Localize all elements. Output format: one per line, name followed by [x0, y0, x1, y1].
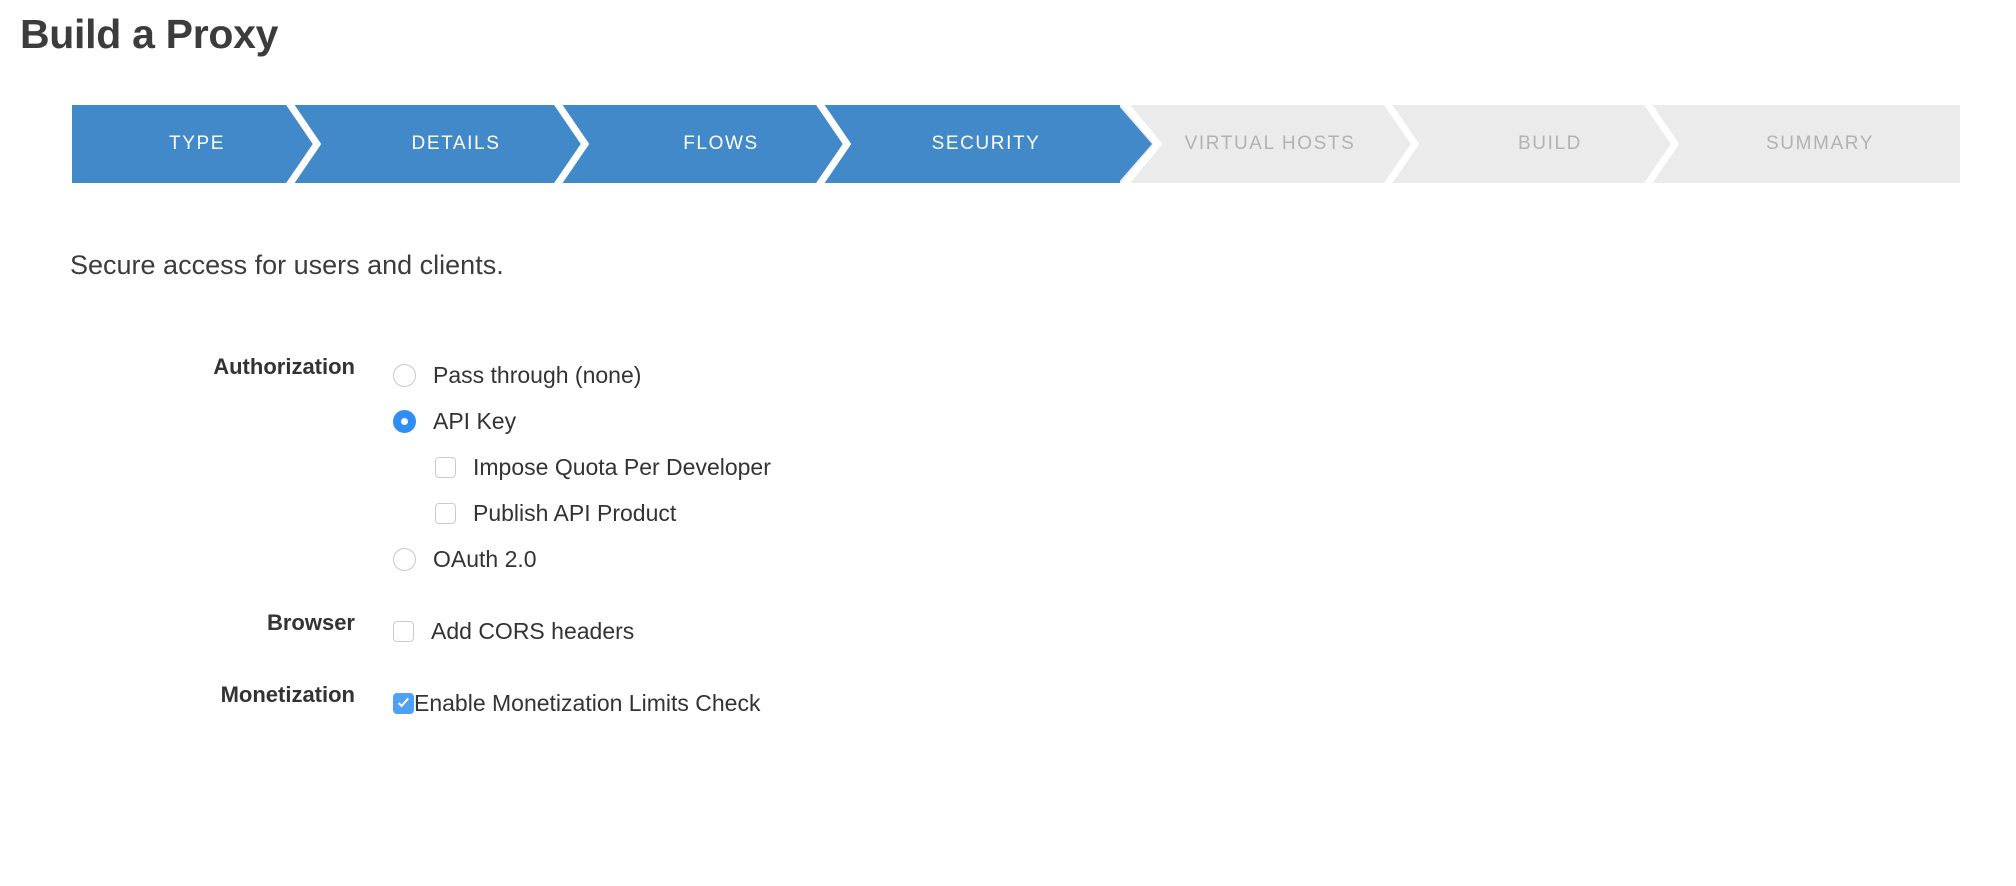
checkbox-option-impose-quota-per-developer[interactable]: Impose Quota Per Developer: [393, 444, 2016, 490]
radio-pass-through-none-unchecked-icon[interactable]: [393, 364, 416, 387]
wizard-step-label: VIRTUAL HOSTS: [1185, 133, 1356, 155]
wizard-step-label: TYPE: [169, 133, 225, 155]
option-label-api-key: API Key: [433, 410, 516, 433]
wizard-step-bar: TYPEDETAILSFLOWSSECURITYVIRTUAL HOSTSBUI…: [72, 105, 1960, 183]
wizard-step-chevron-divider-icon: [551, 105, 591, 183]
option-label-enable-monetization-limits-check: Enable Monetization Limits Check: [414, 692, 760, 715]
radio-option-pass-through-none[interactable]: Pass through (none): [393, 352, 2016, 398]
field-row-authorization: AuthorizationPass through (none)API KeyI…: [0, 352, 2016, 582]
wizard-step-summary[interactable]: SUMMARY: [1680, 105, 1960, 183]
option-label-oauth-2-0: OAuth 2.0: [433, 548, 537, 571]
checkbox-publish-api-product-unchecked-icon[interactable]: [435, 503, 456, 524]
wizard-step-build[interactable]: BUILD: [1420, 105, 1680, 183]
field-row-browser: BrowserAdd CORS headers: [0, 608, 2016, 654]
wizard-step-chevron-divider-icon: [1381, 105, 1421, 183]
radio-api-key-checked-icon[interactable]: [393, 410, 416, 433]
radio-oauth-2-0-unchecked-icon[interactable]: [393, 548, 416, 571]
wizard-step-label: SECURITY: [932, 133, 1041, 155]
option-label-impose-quota-per-developer: Impose Quota Per Developer: [473, 456, 771, 479]
checkbox-option-enable-monetization-limits-check[interactable]: Enable Monetization Limits Check: [393, 680, 2016, 726]
page-description: Secure access for users and clients.: [70, 250, 504, 281]
field-control-monetization: Enable Monetization Limits Check: [355, 680, 2016, 726]
wizard-step-flows[interactable]: FLOWS: [590, 105, 852, 183]
checkbox-option-publish-api-product[interactable]: Publish API Product: [393, 490, 2016, 536]
field-control-browser: Add CORS headers: [355, 608, 2016, 654]
field-control-authorization: Pass through (none)API KeyImpose Quota P…: [355, 352, 2016, 582]
field-label-browser: Browser: [0, 608, 355, 636]
option-label-pass-through-none: Pass through (none): [433, 364, 641, 387]
radio-option-oauth-2-0[interactable]: OAuth 2.0: [393, 536, 2016, 582]
option-label-publish-api-product: Publish API Product: [473, 502, 676, 525]
wizard-step-label: FLOWS: [683, 133, 759, 155]
field-spacer: [0, 582, 2016, 608]
checkbox-add-cors-headers-unchecked-icon[interactable]: [393, 621, 414, 642]
wizard-step-track: TYPEDETAILSFLOWSSECURITYVIRTUAL HOSTSBUI…: [72, 105, 1960, 183]
checkbox-impose-quota-per-developer-unchecked-icon[interactable]: [435, 457, 456, 478]
wizard-step-type[interactable]: TYPE: [72, 105, 322, 183]
checkbox-option-add-cors-headers[interactable]: Add CORS headers: [393, 608, 2016, 654]
security-form: AuthorizationPass through (none)API KeyI…: [0, 352, 2016, 726]
radio-option-api-key[interactable]: API Key: [393, 398, 2016, 444]
wizard-step-security[interactable]: SECURITY: [852, 105, 1120, 183]
wizard-step-chevron-divider-icon: [1641, 105, 1681, 183]
wizard-step-chevron-divider-icon: [283, 105, 323, 183]
wizard-step-chevron-divider-icon: [813, 105, 853, 183]
wizard-step-label: DETAILS: [412, 133, 501, 155]
field-spacer: [0, 654, 2016, 680]
wizard-step-label: SUMMARY: [1766, 133, 1874, 155]
field-row-monetization: MonetizationEnable Monetization Limits C…: [0, 680, 2016, 726]
option-label-add-cors-headers: Add CORS headers: [431, 620, 634, 643]
field-label-authorization: Authorization: [0, 352, 355, 380]
wizard-step-details[interactable]: DETAILS: [322, 105, 590, 183]
wizard-step-virtual-hosts[interactable]: VIRTUAL HOSTS: [1120, 105, 1420, 183]
field-label-monetization: Monetization: [0, 680, 355, 708]
page-title: Build a Proxy: [20, 10, 278, 59]
checkbox-enable-monetization-limits-check-checked-icon[interactable]: [393, 693, 414, 714]
wizard-step-label: BUILD: [1518, 133, 1582, 155]
